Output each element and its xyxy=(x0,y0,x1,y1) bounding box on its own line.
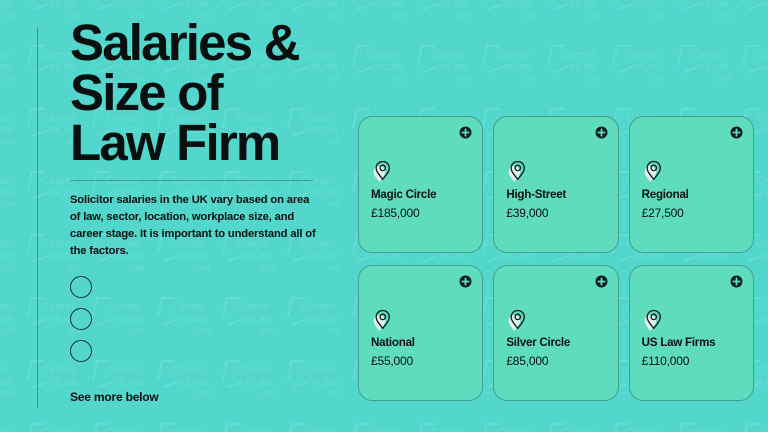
watermark-tile: CareerinLaw.net xyxy=(490,0,555,43)
intro-paragraph: Solicitor salaries in the UK vary based … xyxy=(70,192,320,260)
watermark-tile: CareerinLaw.net xyxy=(555,421,620,432)
page-title: Salaries & Size of Law Firm xyxy=(70,18,345,168)
watermark-tile: CareerinLaw.net xyxy=(0,295,35,358)
card-label: Silver Circle xyxy=(506,336,605,349)
watermark-tile: CareerinLaw.net xyxy=(360,421,425,432)
plus-circle-icon[interactable] xyxy=(730,126,743,139)
watermark-tile: CareerinLaw.net xyxy=(0,421,35,432)
left-vertical-divider xyxy=(37,28,38,408)
watermark-tile: CareerinLaw.net xyxy=(360,43,425,106)
salary-card[interactable]: National £55,000 xyxy=(358,265,483,402)
watermark-tile: CareerinLaw.net xyxy=(165,421,230,432)
watermark-tile: CareerinLaw.net xyxy=(35,421,100,432)
salary-card[interactable]: US Law Firms £110,000 xyxy=(629,265,754,402)
card-value: £110,000 xyxy=(642,354,741,368)
watermark-tile: CareerinLaw.net xyxy=(295,358,360,421)
watermark-tile: CareerinLaw.net xyxy=(425,421,490,432)
watermark-tile: CareerinLaw.net xyxy=(0,232,35,295)
bullet-circle[interactable] xyxy=(70,276,92,298)
plus-circle-icon[interactable] xyxy=(595,126,608,139)
watermark-tile: CareerinLaw.net xyxy=(0,106,35,169)
watermark-tile: CareerinLaw.net xyxy=(425,43,490,106)
watermark-tile: CareerinLaw.net xyxy=(750,43,768,106)
plus-circle-icon[interactable] xyxy=(730,275,743,288)
watermark-tile: CareerinLaw.net xyxy=(0,0,35,43)
watermark-tile: CareerinLaw.net xyxy=(685,0,750,43)
card-label: Magic Circle xyxy=(371,188,470,201)
bullet-circle[interactable] xyxy=(70,340,92,362)
watermark-tile: CareerinLaw.net xyxy=(360,0,425,43)
watermark-tile: CareerinLaw.net xyxy=(490,43,555,106)
card-value: £85,000 xyxy=(506,354,605,368)
watermark-tile: CareerinLaw.net xyxy=(425,0,490,43)
watermark-tile: CareerinLaw.net xyxy=(620,43,685,106)
watermark-tile: CareerinLaw.net xyxy=(0,169,35,232)
salary-card[interactable]: High-Street £39,000 xyxy=(493,116,618,253)
watermark-tile: CareerinLaw.net xyxy=(0,358,35,421)
salary-card-grid: Magic Circle £185,000 High-Street £39,00… xyxy=(358,116,754,401)
card-label: National xyxy=(371,336,470,349)
watermark-tile: CareerinLaw.net xyxy=(750,0,768,43)
plus-circle-icon[interactable] xyxy=(459,126,472,139)
card-value: £39,000 xyxy=(506,206,605,220)
watermark-tile: CareerinLaw.net xyxy=(490,421,555,432)
watermark-tile: CareerinLaw.net xyxy=(295,421,360,432)
map-pin-icon xyxy=(507,159,528,184)
watermark-tile: CareerinLaw.net xyxy=(620,0,685,43)
title-divider xyxy=(70,180,313,181)
card-label: US Law Firms xyxy=(642,336,741,349)
card-label: Regional xyxy=(642,188,741,201)
salary-card[interactable]: Silver Circle £85,000 xyxy=(493,265,618,402)
watermark-tile: CareerinLaw.net xyxy=(165,358,230,421)
watermark-tile: CareerinLaw.net xyxy=(230,358,295,421)
plus-circle-icon[interactable] xyxy=(595,275,608,288)
card-value: £185,000 xyxy=(371,206,470,220)
bullet-circle-list xyxy=(70,276,345,362)
watermark-tile: CareerinLaw.net xyxy=(100,421,165,432)
map-pin-icon xyxy=(372,159,393,184)
bullet-circle[interactable] xyxy=(70,308,92,330)
left-content-column: Salaries & Size of Law Firm Solicitor sa… xyxy=(70,18,345,362)
infographic-canvas: CareerinLaw.netCareerinLaw.netCareerinLa… xyxy=(0,0,768,432)
watermark-tile: CareerinLaw.net xyxy=(0,43,35,106)
map-pin-icon xyxy=(643,159,664,184)
salary-card[interactable]: Magic Circle £185,000 xyxy=(358,116,483,253)
watermark-tile: CareerinLaw.net xyxy=(230,421,295,432)
plus-circle-icon[interactable] xyxy=(459,275,472,288)
watermark-tile: CareerinLaw.net xyxy=(750,421,768,432)
watermark-tile: CareerinLaw.net xyxy=(555,43,620,106)
see-more-label[interactable]: See more below xyxy=(70,390,159,404)
map-pin-icon xyxy=(507,308,528,333)
card-value: £27,500 xyxy=(642,206,741,220)
watermark-tile: CareerinLaw.net xyxy=(685,421,750,432)
map-pin-icon xyxy=(643,308,664,333)
card-label: High-Street xyxy=(506,188,605,201)
watermark-tile: CareerinLaw.net xyxy=(555,0,620,43)
map-pin-icon xyxy=(372,308,393,333)
watermark-tile: CareerinLaw.net xyxy=(685,43,750,106)
watermark-tile: CareerinLaw.net xyxy=(620,421,685,432)
salary-card[interactable]: Regional £27,500 xyxy=(629,116,754,253)
card-value: £55,000 xyxy=(371,354,470,368)
